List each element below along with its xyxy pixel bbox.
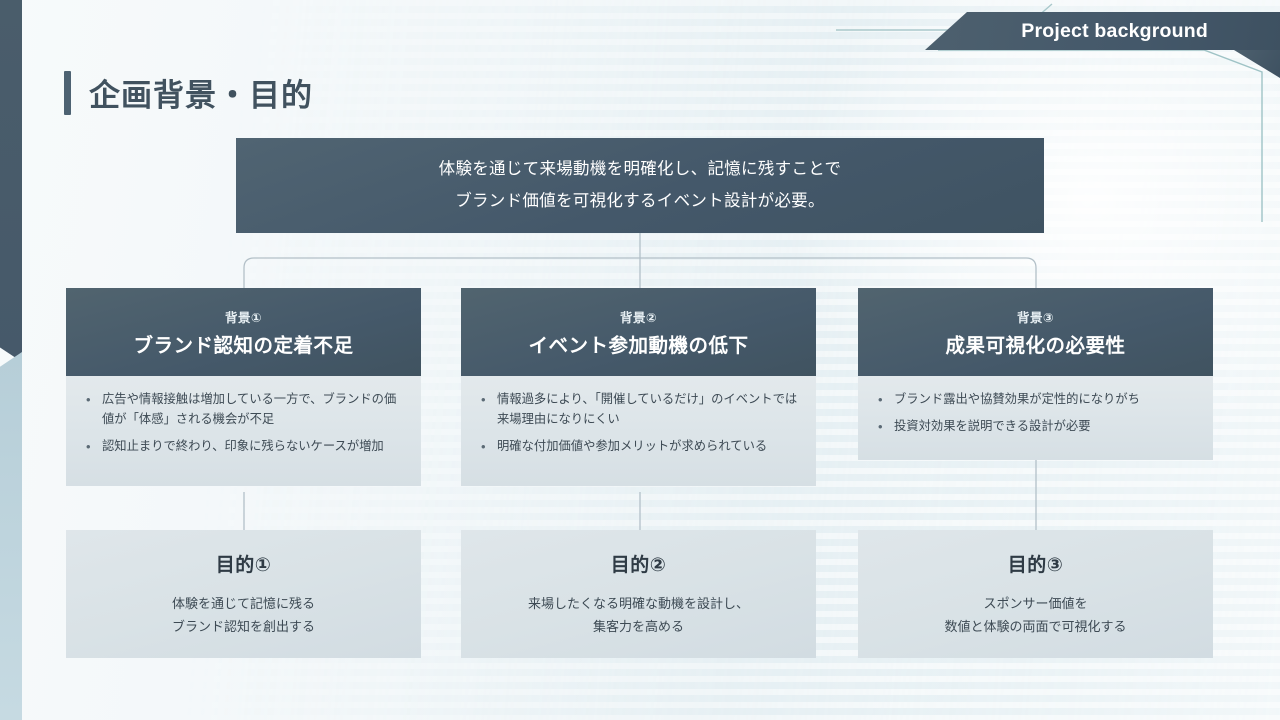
background-card-2-title: イベント参加動機の低下 <box>528 329 748 358</box>
background-card-2-header: 背景② イベント参加動機の低下 <box>461 288 816 376</box>
summary-line-2: ブランド価値を可視化するイベント設計が必要。 <box>455 190 825 214</box>
purpose-box-3: 目的③ スポンサー価値を 数値と体験の両面で可視化する <box>858 530 1213 658</box>
header-ribbon-label: Project background <box>1021 20 1208 43</box>
purpose-box-2-line-2: 集客力を高める <box>593 616 684 639</box>
list-item: 情報過多により、「開催しているだけ」のイベントでは来場理由になりにくい <box>479 390 798 430</box>
background-card-3-title: 成果可視化の必要性 <box>945 329 1125 358</box>
summary-box: 体験を通じて来場動機を明確化し、記憶に残すことで ブランド価値を可視化するイベン… <box>236 138 1044 233</box>
left-edge-accent-dark <box>0 0 22 362</box>
list-item: 投資対効果を説明できる設計が必要 <box>876 417 1195 437</box>
page-title-text: 企画背景・目的 <box>89 70 313 115</box>
background-card-2-bullets: 情報過多により、「開催しているだけ」のイベントでは来場理由になりにくい 明確な付… <box>479 390 798 457</box>
summary-line-1: 体験を通じて来場動機を明確化し、記憶に残すことで <box>439 158 842 182</box>
purpose-box-2: 目的② 来場したくなる明確な動機を設計し、 集客力を高める <box>461 530 816 658</box>
page-title: 企画背景・目的 <box>64 70 313 115</box>
background-card-2-kicker: 背景② <box>620 307 657 326</box>
background-card-3: 背景③ 成果可視化の必要性 ブランド露出や協賛効果が定性的になりがち 投資対効果… <box>858 288 1213 460</box>
purpose-box-1-title: 目的① <box>216 550 272 577</box>
title-accent-bar <box>64 71 71 115</box>
background-card-3-kicker: 背景③ <box>1017 307 1054 326</box>
list-item: 広告や情報接触は増加している一方で、ブランドの価値が「体感」される機会が不足 <box>84 390 403 430</box>
background-card-2-body: 情報過多により、「開催しているだけ」のイベントでは来場理由になりにくい 明確な付… <box>461 376 816 486</box>
purpose-box-3-line-2: 数値と体験の両面で可視化する <box>944 616 1126 639</box>
left-edge-accent-light <box>0 352 22 720</box>
purpose-box-3-title: 目的③ <box>1008 550 1064 577</box>
background-card-1-kicker: 背景① <box>225 307 262 326</box>
slide-canvas: Project background 企画背景・目的 体験を通じて来場動機を明確… <box>0 0 1280 720</box>
purpose-box-1-line-2: ブランド認知を創出する <box>172 616 315 639</box>
background-card-3-header: 背景③ 成果可視化の必要性 <box>858 288 1213 376</box>
list-item: ブランド露出や協賛効果が定性的になりがち <box>876 390 1195 410</box>
purpose-box-1: 目的① 体験を通じて記憶に残る ブランド認知を創出する <box>66 530 421 658</box>
purpose-box-2-title: 目的② <box>611 550 667 577</box>
background-card-3-bullets: ブランド露出や協賛効果が定性的になりがち 投資対効果を説明できる設計が必要 <box>876 390 1195 437</box>
background-card-1-body: 広告や情報接触は増加している一方で、ブランドの価値が「体感」される機会が不足 認… <box>66 376 421 486</box>
background-card-1-header: 背景① ブランド認知の定着不足 <box>66 288 421 376</box>
background-card-1: 背景① ブランド認知の定着不足 広告や情報接触は増加している一方で、ブランドの価… <box>66 288 421 486</box>
purpose-box-2-line-1: 来場したくなる明確な動機を設計し、 <box>528 593 749 616</box>
list-item: 明確な付加価値や参加メリットが求められている <box>479 437 798 457</box>
purpose-box-3-line-1: スポンサー価値を <box>983 593 1087 616</box>
background-card-3-body: ブランド露出や協賛効果が定性的になりがち 投資対効果を説明できる設計が必要 <box>858 376 1213 460</box>
background-card-2: 背景② イベント参加動機の低下 情報過多により、「開催しているだけ」のイベントで… <box>461 288 816 486</box>
header-ribbon: Project background <box>925 12 1280 50</box>
background-card-1-title: ブランド認知の定着不足 <box>133 329 353 358</box>
list-item: 認知止まりで終わり、印象に残らないケースが増加 <box>84 437 403 457</box>
background-card-1-bullets: 広告や情報接触は増加している一方で、ブランドの価値が「体感」される機会が不足 認… <box>84 390 403 457</box>
purpose-box-1-line-1: 体験を通じて記憶に残る <box>172 593 315 616</box>
